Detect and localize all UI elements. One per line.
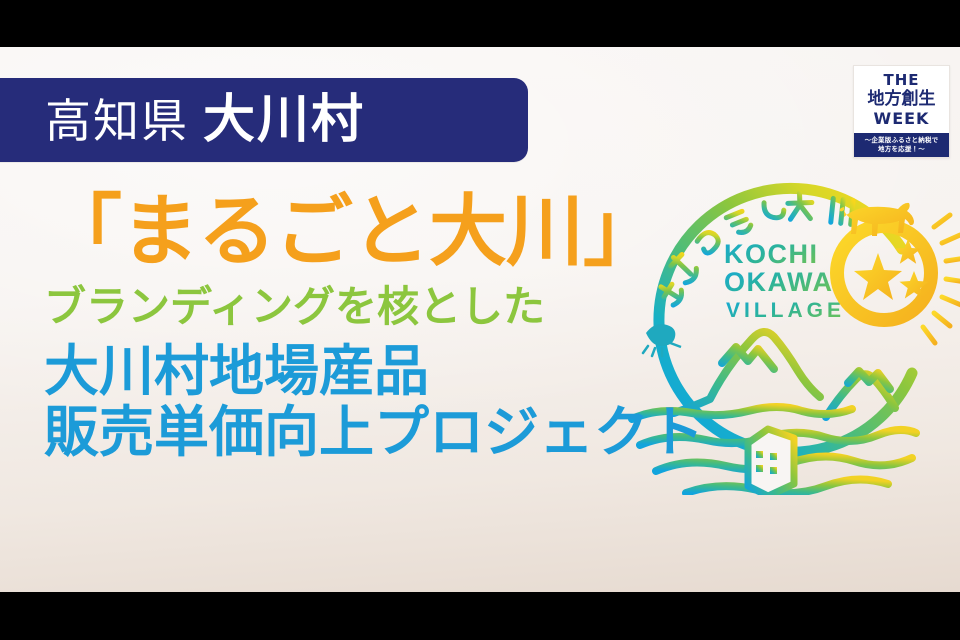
letterbox-top (0, 0, 960, 47)
week-logo-tagline-line2: 地方を応援！〜 (856, 145, 947, 154)
chiho-sosei-week-logo: THE 地方創生 WEEK 〜企業版ふるさと納税で 地方を応援！〜 (853, 65, 950, 158)
letterbox-bottom (0, 592, 960, 640)
svg-text:OKAWA: OKAWA (724, 267, 834, 297)
prefecture-village-badge: 高知県 大川村 (0, 78, 528, 162)
project-title-blue-line1: 大川村地場産品 (44, 341, 704, 403)
week-logo-tagline-band: 〜企業版ふるさと納税で 地方を応援！〜 (854, 133, 949, 158)
week-logo-body: THE 地方創生 WEEK (854, 66, 949, 133)
slide-canvas: 高知県 大川村 「まるごと大川」 ブランディングを核とした 大川村地場産品 販売… (0, 47, 960, 592)
week-logo-the: THE (858, 73, 945, 89)
village-label: 大川村 (203, 94, 365, 146)
house-icon (748, 429, 794, 495)
svg-text:KOCHI: KOCHI (724, 239, 819, 269)
logo-wordmark: KOCHI OKAWA VILLAGE (724, 239, 845, 322)
sun-ring-icon (837, 226, 931, 320)
project-title-main: 「まるごと大川」 (44, 193, 704, 273)
headline-block: 「まるごと大川」 ブランディングを核とした 大川村地場産品 販売単価向上プロジェ… (44, 193, 704, 464)
week-logo-jp: 地方創生 (858, 90, 945, 110)
prefecture-label: 高知県 (45, 98, 189, 144)
week-logo-week: WEEK (858, 110, 945, 128)
svg-text:VILLAGE: VILLAGE (726, 299, 845, 322)
project-title-blue: 大川村地場産品 販売単価向上プロジェクト (44, 341, 704, 464)
project-title-sub: ブランディングを核とした (44, 285, 704, 329)
slide-stage: 高知県 大川村 「まるごと大川」 ブランディングを核とした 大川村地場産品 販売… (0, 0, 960, 640)
project-title-blue-line2: 販売単価向上プロジェクト (44, 402, 704, 464)
badge-inner: 高知県 大川村 (0, 94, 365, 146)
week-logo-tagline-line1: 〜企業版ふるさと納税で (856, 136, 947, 145)
